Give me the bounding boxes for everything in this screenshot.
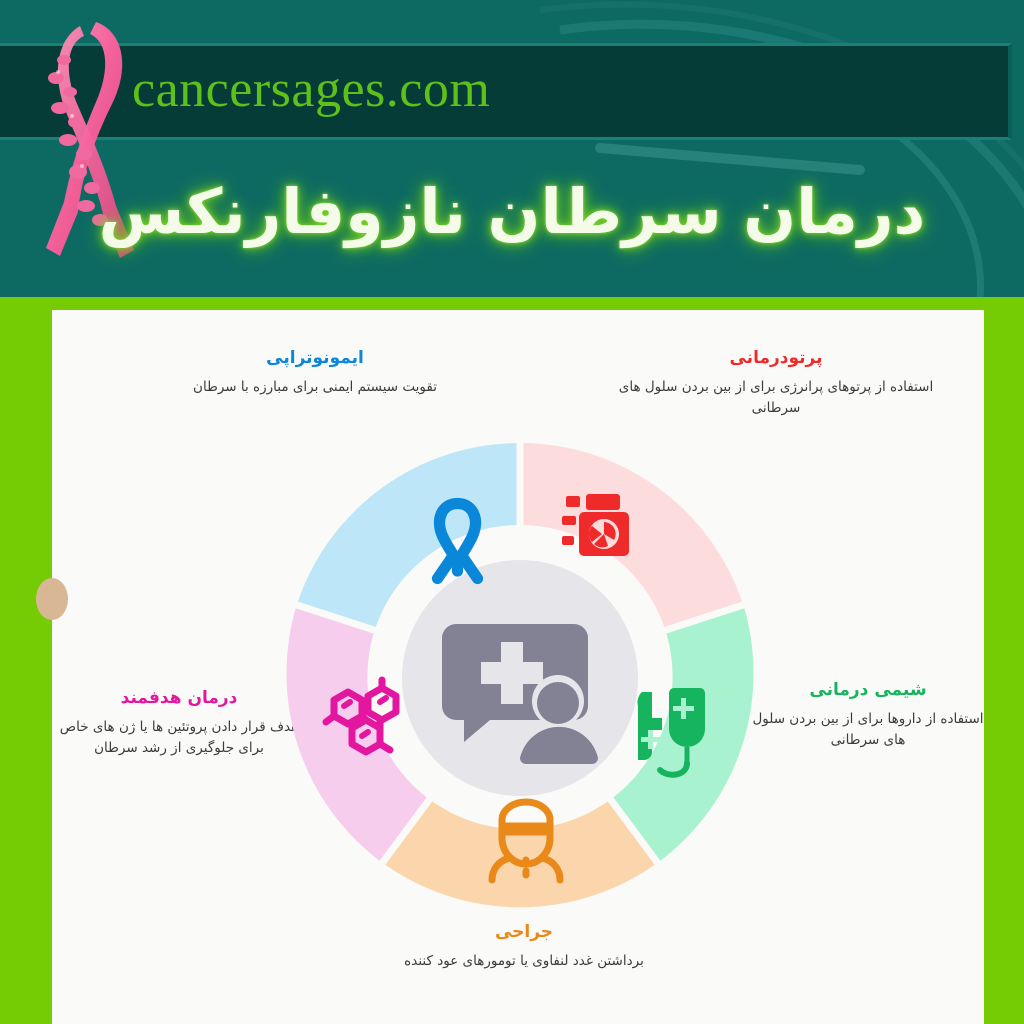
decorative-dot: [36, 578, 68, 620]
treatment-wheel-chart: [270, 428, 770, 928]
label-targeted-therapy-title: درمان هدفمند: [54, 688, 304, 708]
infographic-page: cancersages.com درمان سرطان نازوفارنکس ا…: [0, 0, 1024, 1024]
label-immunotherapy-desc: تقویت سیستم ایمنی برای مبارزه با سرطان: [170, 377, 460, 398]
label-chemotherapy: شیمی درمانی استفاده از داروها برای از بی…: [752, 680, 984, 751]
label-radiotherapy: پرتودرمانی استفاده از پرتوهای پرانرژی بر…: [618, 348, 934, 419]
radiation-beam-machine-icon: [562, 494, 629, 556]
label-immunotherapy: ایمونوتراپی تقویت سیستم ایمنی برای مبارز…: [170, 348, 460, 398]
header-divider: [0, 297, 1024, 300]
brand-name[interactable]: cancersages.com: [132, 60, 490, 119]
label-immunotherapy-title: ایمونوتراپی: [170, 348, 460, 368]
label-targeted-therapy: درمان هدفمند هدف قرار دادن پروتئین ها یا…: [54, 688, 304, 759]
label-targeted-therapy-desc: هدف قرار دادن پروتئین ها یا ژن های خاص ب…: [54, 717, 304, 759]
label-chemotherapy-desc: استفاده از داروها برای از بین بردن سلول …: [752, 709, 984, 751]
label-surgery: جراحی برداشتن غدد لنفاوی یا تومورهای عود…: [404, 922, 644, 972]
label-radiotherapy-title: پرتودرمانی: [618, 348, 934, 368]
label-chemotherapy-title: شیمی درمانی: [752, 680, 984, 700]
page-title: درمان سرطان نازوفارنکس: [0, 176, 1024, 247]
page-header: cancersages.com درمان سرطان نازوفارنکس: [0, 0, 1024, 300]
content-panel: ایمونوتراپی تقویت سیستم ایمنی برای مبارز…: [52, 310, 984, 1024]
label-surgery-desc: برداشتن غدد لنفاوی یا تومورهای عود کننده: [404, 951, 644, 972]
label-radiotherapy-desc: استفاده از پرتوهای پرانرژی برای از بین ب…: [618, 377, 934, 419]
